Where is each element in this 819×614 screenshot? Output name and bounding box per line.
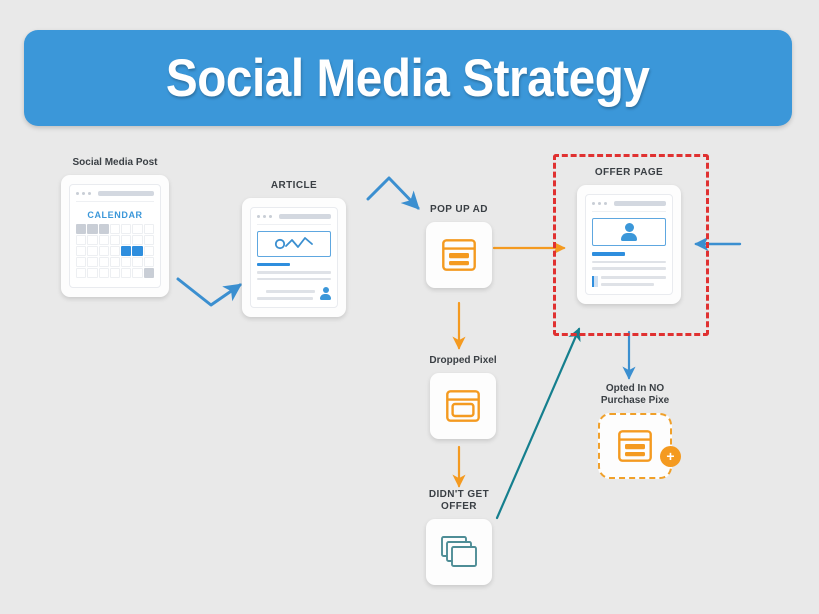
node-label-social-media-post: Social Media Post [48,157,182,169]
diagram-canvas: Social Media Strategy [0,0,819,614]
node-offer-page[interactable]: OFFER PAGE [566,167,692,304]
article-card[interactable] [242,198,346,317]
node-social-media-post[interactable]: Social Media Post CALENDAR [48,157,182,297]
browser-dot-icon [269,215,272,218]
node-opted-in-no-purchase[interactable]: Opted In NO Purchase Pixe + [575,383,695,479]
opted-in-no-purchase-card[interactable]: + [598,413,672,479]
offer-headline-bar [592,252,625,256]
dropped-pixel-card[interactable] [430,373,496,439]
browser-bar [76,191,154,202]
node-label-opted-in-no-purchase: Opted In NO Purchase Pixe [575,383,695,407]
pop-up-ad-card[interactable] [426,222,492,288]
browser-dot-icon [76,192,79,195]
article-text-line [257,271,331,273]
browser-url-bar [279,214,331,219]
offer-list-block [592,276,666,287]
offer-text-line [601,276,666,279]
offer-page-card[interactable] [577,185,681,304]
stacked-layers-icon [440,535,478,569]
node-label-article: ARTICLE [232,180,356,192]
connector-post-to-article [178,279,240,305]
article-text-line [266,290,315,293]
node-label-offer-page: OFFER PAGE [566,167,692,179]
social-media-post-card[interactable]: CALENDAR [61,175,169,297]
didnt-get-offer-card[interactable] [426,519,492,585]
browser-dot-icon [592,202,595,205]
offer-text-line [592,261,666,264]
popup-window-icon [442,239,476,271]
node-dropped-pixel[interactable]: Dropped Pixel [416,355,510,439]
browser-dot-icon [82,192,85,195]
calendar-grid [76,224,154,278]
browser-bar [257,214,331,225]
offer-text-line [601,283,654,286]
article-browser-icon [250,207,338,308]
article-text-line [257,278,331,280]
browser-url-bar [98,191,154,196]
article-text-line [257,297,313,300]
browser-dot-icon [604,202,607,205]
browser-url-bar [614,201,666,206]
browser-dot-icon [598,202,601,205]
avatar [320,287,331,300]
title-banner: Social Media Strategy [24,30,792,126]
node-label-pop-up-ad: POP UP AD [412,204,506,216]
plus-badge-icon: + [660,446,681,467]
connector-article-to-popup [368,178,418,208]
browser-bar [592,201,666,212]
node-label-didnt-get-offer: DIDN'T GET OFFER [412,489,506,513]
node-label-dropped-pixel: Dropped Pixel [416,355,510,367]
calendar-title: CALENDAR [76,210,154,220]
avatar [592,218,666,246]
calendar-browser-icon: CALENDAR [69,184,161,288]
node-article[interactable]: ARTICLE [232,180,356,317]
offer-browser-icon [585,194,673,295]
article-headline-bar [257,263,290,266]
page-title: Social Media Strategy [166,48,650,109]
offer-text-line [592,267,666,270]
browser-dot-icon [88,192,91,195]
node-pop-up-ad[interactable]: POP UP AD [412,204,506,288]
node-didnt-get-offer[interactable]: DIDN'T GET OFFER [412,489,506,585]
list-bracket-icon [592,276,598,287]
pixel-window-icon [446,390,480,422]
chart-graph-icon [257,231,331,257]
popup-window-plus-icon [618,430,652,462]
browser-dot-icon [257,215,260,218]
browser-dot-icon [263,215,266,218]
